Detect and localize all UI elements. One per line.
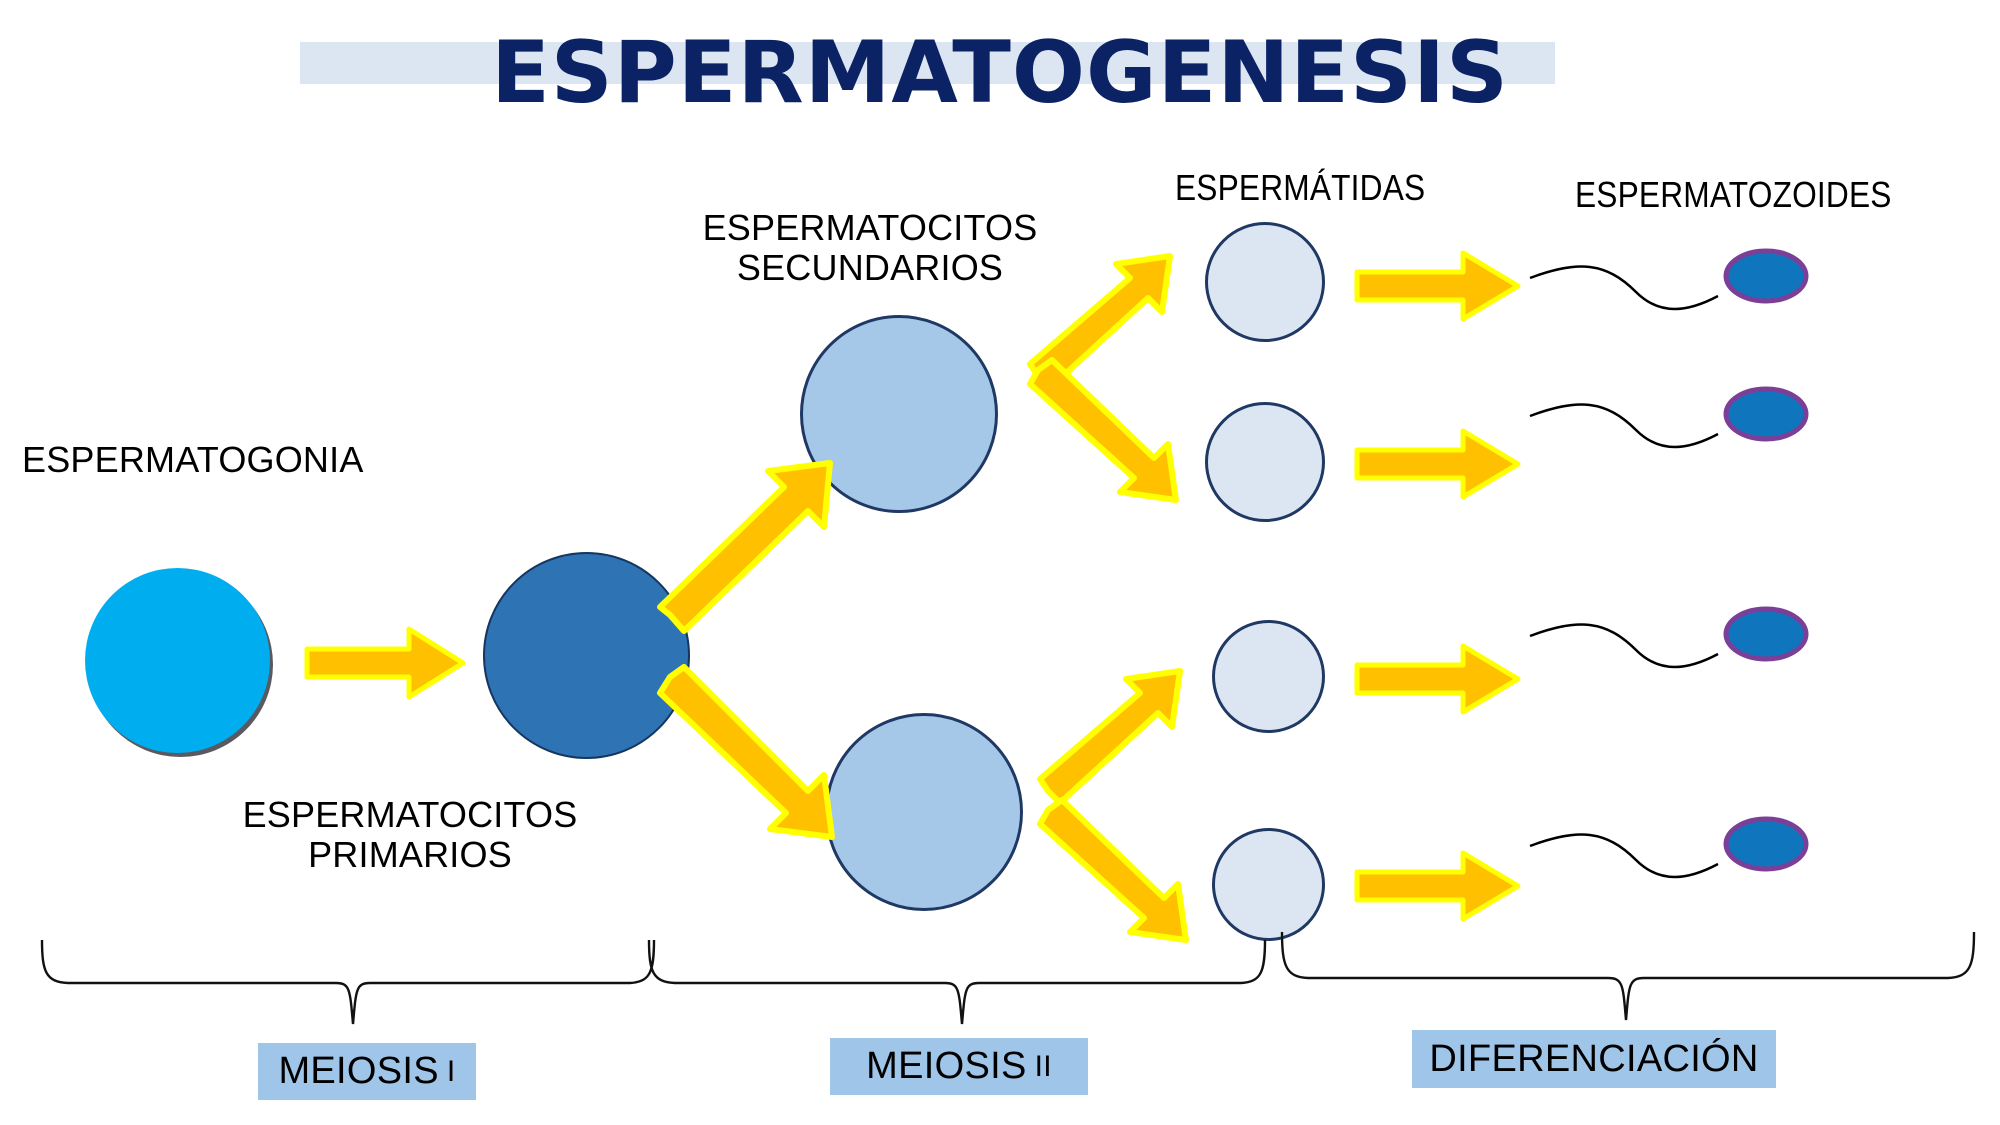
cell-spermatid-1 bbox=[1205, 222, 1325, 342]
phase-chip-meiosis-1: MEIOSIS I bbox=[258, 1043, 476, 1100]
spermatozoon-4 bbox=[1528, 808, 1828, 918]
brace-diferenciacion bbox=[1278, 930, 1978, 1025]
phase-chip-diferenciacion: DIFERENCIACIÓN bbox=[1412, 1030, 1776, 1088]
label-primary-spermatocytes: ESPERMATOCITOS PRIMARIOS bbox=[180, 795, 640, 876]
phase-label-meiosis-1: MEIOSIS bbox=[278, 1050, 438, 1093]
arrow-secondary1-to-spermatid2 bbox=[1030, 360, 1195, 505]
phase-numeral-meiosis-1: I bbox=[447, 1055, 456, 1089]
label-secondary-spermatocytes: ESPERMATOCITOS SECUNDARIOS bbox=[660, 208, 1080, 289]
arrow-primary-to-secondary-2 bbox=[660, 665, 855, 845]
arrow-secondary2-to-spermatid3 bbox=[1040, 665, 1200, 805]
page-title: ESPERMATOGENESIS bbox=[0, 30, 2000, 116]
cell-spermatid-2 bbox=[1205, 402, 1325, 522]
cell-spermatogonium bbox=[85, 568, 270, 753]
arrow-spermatid2-to-spermatozoon2 bbox=[1355, 428, 1520, 500]
cell-primary-spermatocyte bbox=[483, 552, 690, 759]
arrow-spermatid4-to-spermatozoon4 bbox=[1355, 850, 1520, 922]
brace-meiosis-2 bbox=[645, 938, 1270, 1028]
arrow-secondary2-to-spermatid4 bbox=[1040, 800, 1205, 945]
brace-meiosis-1 bbox=[38, 938, 658, 1028]
spermatozoon-3 bbox=[1528, 598, 1828, 708]
spermatozoon-2 bbox=[1528, 378, 1828, 488]
phase-chip-meiosis-2: MEIOSIS II bbox=[830, 1038, 1088, 1095]
spermatozoon-1 bbox=[1528, 240, 1828, 350]
phase-label-diferenciacion: DIFERENCIACIÓN bbox=[1429, 1038, 1758, 1081]
arrow-spermatid1-to-spermatozoon1 bbox=[1355, 250, 1520, 322]
arrow-spermatid3-to-spermatozoon3 bbox=[1355, 643, 1520, 715]
phase-label-meiosis-2: MEIOSIS bbox=[866, 1045, 1026, 1088]
cell-spermatid-3 bbox=[1212, 620, 1325, 733]
phase-numeral-meiosis-2: II bbox=[1035, 1050, 1052, 1084]
label-spermatozoa: ESPERMATOZOIDES bbox=[1575, 175, 1892, 215]
label-spermatids: ESPERMÁTIDAS bbox=[1175, 168, 1425, 208]
cell-spermatid-4 bbox=[1212, 828, 1325, 941]
arrow-primary-to-secondary-1 bbox=[660, 455, 850, 635]
arrow-spermatogonium-to-primary bbox=[305, 625, 465, 701]
label-spermatogonia: ESPERMATOGONIA bbox=[22, 440, 364, 480]
